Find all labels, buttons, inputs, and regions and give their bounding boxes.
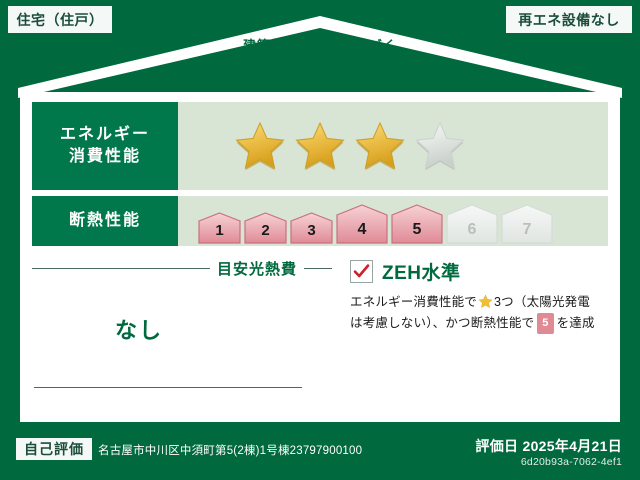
zeh-section: ZEH水準 エネルギー消費性能で3つ（太陽光発電は考慮しない）、かつ断熱性能で5… <box>332 254 608 410</box>
zeh-desc-part1: エネルギー消費性能で <box>350 295 477 309</box>
label-footer: 自己評価 名古屋市中川区中須町第5(2棟)1号棟23797900100 評価日 … <box>0 430 640 480</box>
star-icon-filled <box>354 120 406 172</box>
zeh-desc-part3: を達成 <box>557 316 595 330</box>
utility-cost-header: 目安光熱費 <box>32 258 332 279</box>
insulation-level-3: 3 <box>290 212 333 244</box>
insulation-level-number: 4 <box>336 221 388 239</box>
lower-section: 目安光熱費 なし ZEH水準 エネルギー消費性能で3つ（太陽光発電は考慮しな <box>32 254 608 410</box>
energy-performance-label: エネルギー 消費性能 <box>32 102 178 190</box>
insulation-level-1: 1 <box>198 212 241 244</box>
insulation-level-6: 6 <box>446 204 498 244</box>
energy-performance-row: エネルギー 消費性能 <box>32 102 608 190</box>
insulation-level-number: 5 <box>391 221 443 239</box>
utility-cost-section: 目安光熱費 なし <box>32 254 332 410</box>
badge-house-type: 住宅（住戸） <box>8 6 112 33</box>
check-icon <box>353 263 370 280</box>
zeh-checkbox[interactable] <box>350 260 373 283</box>
label-title-block: 建築物省エネ法に基づく 省エネ性能ラベル <box>0 38 640 87</box>
insulation-level-7: 7 <box>501 204 553 244</box>
insulation-level-5: 5 <box>391 204 443 244</box>
zeh-header: ZEH水準 <box>350 258 608 285</box>
utility-cost-underline <box>34 387 302 388</box>
insulation-level-number: 3 <box>290 222 333 239</box>
insulation-level-2: 2 <box>244 212 287 244</box>
star-icon-filled <box>294 120 346 172</box>
zeh-desc-part2: は考慮しない）、かつ断熱性能で <box>350 316 534 330</box>
energy-performance-label: 住宅（住戸） 再エネ設備なし 建築物省エネ法に基づく 省エネ性能ラベル エネルギ… <box>0 0 640 480</box>
insulation-performance-body: 1234567 <box>178 196 608 246</box>
utility-cost-title: 目安光熱費 <box>217 258 297 279</box>
star-rating <box>178 120 466 172</box>
badge-self-evaluation: 自己評価 <box>16 438 92 460</box>
title-main: 省エネ性能ラベル <box>0 56 640 87</box>
energy-performance-body <box>178 102 608 190</box>
zeh-desc-stars: 3つ（太陽光発電 <box>494 295 590 309</box>
footer-evaluation-date: 評価日 2025年4月21日 <box>475 436 622 456</box>
star-icon-empty <box>414 120 466 172</box>
energy-label-line2: 消費性能 <box>69 146 141 168</box>
divider-right <box>304 268 332 269</box>
energy-label-line1: エネルギー <box>60 124 150 146</box>
utility-cost-value: なし <box>32 313 332 345</box>
insulation-level-number: 2 <box>244 222 287 239</box>
insulation-level-number: 6 <box>446 221 498 239</box>
label-card: エネルギー 消費性能 断熱性能 1234567 目安光熱費 <box>20 92 620 422</box>
title-subtitle: 建築物省エネ法に基づく <box>0 38 640 54</box>
insulation-level-4: 4 <box>336 204 388 244</box>
insulation-label-text: 断熱性能 <box>69 210 141 232</box>
zeh-description: エネルギー消費性能で3つ（太陽光発電は考慮しない）、かつ断熱性能で5を達成 <box>350 292 608 334</box>
insulation-level-number: 7 <box>501 221 553 239</box>
badge-renewable-energy: 再エネ設備なし <box>506 6 632 33</box>
star-icon <box>478 294 493 309</box>
star-icon-filled <box>234 120 286 172</box>
insulation-level-number: 1 <box>198 222 241 239</box>
insulation-level-scale: 1234567 <box>178 194 553 249</box>
divider-left <box>32 268 210 269</box>
insulation-performance-row: 断熱性能 1234567 <box>32 196 608 246</box>
zeh-title: ZEH水準 <box>382 258 461 285</box>
footer-address: 名古屋市中川区中須町第5(2棟)1号棟23797900100 <box>98 442 362 458</box>
footer-document-id: 6d20b93a-7062-4ef1 <box>521 456 622 468</box>
insulation-performance-label: 断熱性能 <box>32 196 178 246</box>
zeh-desc-level-badge: 5 <box>537 313 553 334</box>
